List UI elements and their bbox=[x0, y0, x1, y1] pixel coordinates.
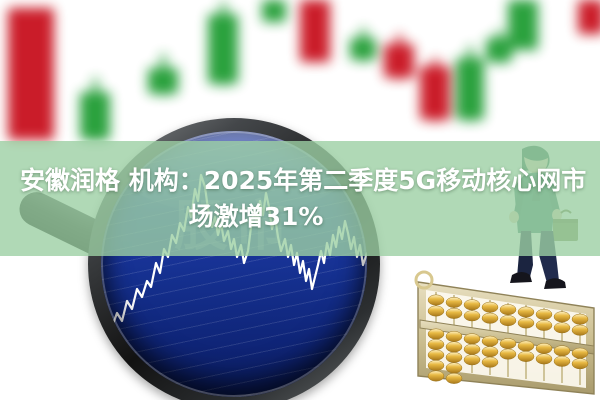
abacus-bead bbox=[464, 344, 480, 354]
abacus-bead bbox=[482, 347, 498, 357]
abacus-bead bbox=[446, 363, 462, 373]
abacus-bead bbox=[446, 352, 462, 362]
headline-line-2: 场激增31% bbox=[189, 199, 412, 235]
candle-body bbox=[262, 0, 286, 22]
candle-body bbox=[148, 68, 178, 94]
abacus-bead bbox=[428, 350, 444, 360]
abacus-bead bbox=[446, 308, 462, 318]
candle-body bbox=[208, 14, 238, 84]
abacus-bead bbox=[536, 309, 552, 319]
abacus-bead bbox=[446, 342, 462, 352]
abacus-bead bbox=[446, 331, 462, 341]
news-thumbnail-image: 股市 bbox=[0, 0, 600, 400]
abacus-bead bbox=[428, 339, 444, 349]
abacus-bead bbox=[554, 356, 570, 366]
abacus-bead bbox=[536, 343, 552, 353]
abacus-bead bbox=[464, 300, 480, 310]
abacus-bead bbox=[536, 354, 552, 364]
abacus-bead bbox=[428, 295, 444, 305]
abacus-bead bbox=[464, 355, 480, 365]
candle-body bbox=[578, 0, 600, 34]
abacus-bead bbox=[482, 357, 498, 367]
abacus-bead bbox=[554, 312, 570, 322]
abacus-bead bbox=[464, 311, 480, 321]
headline-line-1: 安徽润格 机构：2025年第二季度5G移动核心网市 bbox=[14, 163, 586, 199]
abacus-bead bbox=[572, 314, 588, 324]
candle-body bbox=[300, 0, 330, 62]
abacus-bead bbox=[518, 351, 534, 361]
abacus-bead bbox=[446, 373, 462, 383]
abacus-bead bbox=[428, 371, 444, 381]
candle-body bbox=[420, 66, 450, 120]
abacus-bead bbox=[554, 323, 570, 333]
abacus-bead bbox=[500, 315, 516, 325]
abacus-bead bbox=[464, 334, 480, 344]
abacus-bead bbox=[572, 325, 588, 335]
abacus-bead bbox=[500, 338, 516, 348]
abacus-bead bbox=[572, 348, 588, 358]
abacus-bead bbox=[500, 349, 516, 359]
abacus-bead bbox=[482, 336, 498, 346]
candle-body bbox=[384, 44, 414, 78]
abacus-bead bbox=[428, 306, 444, 316]
abacus-bead bbox=[446, 297, 462, 307]
abacus-bead bbox=[482, 313, 498, 323]
abacus-bead bbox=[518, 307, 534, 317]
abacus-bead bbox=[554, 346, 570, 356]
abacus-bead bbox=[500, 304, 516, 314]
abacus-bead bbox=[428, 360, 444, 370]
candle-body bbox=[8, 8, 54, 140]
abacus-bead bbox=[572, 359, 588, 369]
abacus-bead bbox=[518, 318, 534, 328]
candle-body bbox=[456, 58, 484, 120]
abacus-bead bbox=[428, 329, 444, 339]
abacus-bead bbox=[536, 320, 552, 330]
abacus-bead bbox=[518, 341, 534, 351]
headline: 安徽润格 机构：2025年第二季度5G移动核心网市 场激增31% bbox=[0, 141, 600, 256]
abacus-bead bbox=[482, 302, 498, 312]
candle-body bbox=[508, 0, 538, 50]
candle-body bbox=[350, 38, 376, 60]
